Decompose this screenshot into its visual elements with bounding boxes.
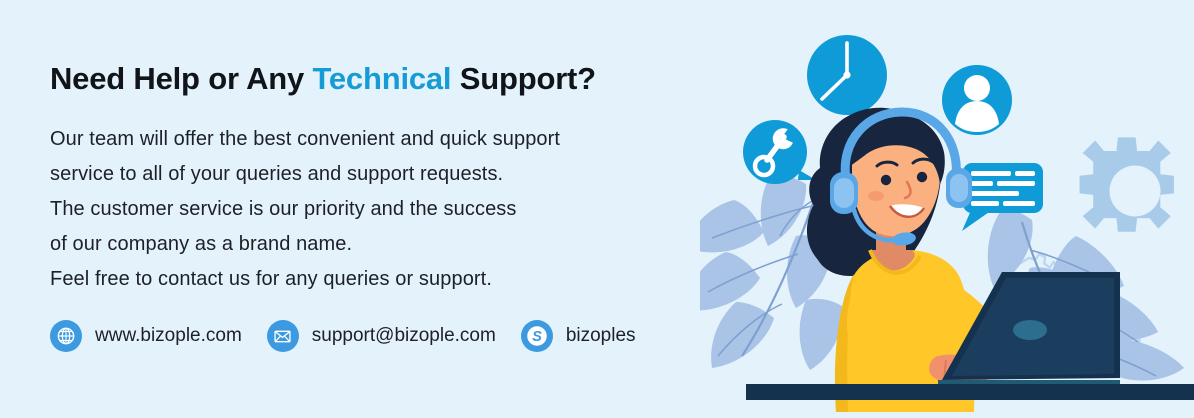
skype-icon: S: [521, 320, 553, 352]
contact-item-website[interactable]: www.bizople.com: [50, 320, 242, 352]
desk: [746, 384, 1194, 400]
content-column: Need Help or Any Technical Support? Our …: [50, 0, 740, 418]
envelope-icon: [267, 320, 299, 352]
description-paragraph: Our team will offer the best convenient …: [50, 122, 560, 262]
description-line-3: The customer service is our priority and…: [50, 198, 517, 220]
description-line-4: of our company as a brand name.: [50, 233, 352, 255]
support-banner: Need Help or Any Technical Support? Our …: [0, 0, 1194, 418]
cta-paragraph: Feel free to contact us for any queries …: [50, 262, 492, 297]
user-avatar-icon: [942, 65, 1012, 135]
contact-item-skype[interactable]: S bizoples: [521, 320, 636, 352]
description-line-1: Our team will offer the best convenient …: [50, 128, 560, 150]
contact-list: www.bizople.com support@bizople.com: [50, 320, 657, 352]
contact-label-email: support@bizople.com: [312, 325, 496, 347]
globe-icon: [50, 320, 82, 352]
page-title-part2: Support?: [451, 61, 596, 96]
page-title: Need Help or Any Technical Support?: [50, 61, 596, 97]
contact-label-skype: bizoples: [566, 325, 636, 347]
description-line-2: service to all of your queries and suppo…: [50, 163, 503, 185]
page-title-part1: Need Help or Any: [50, 61, 312, 96]
gear-icon-large: [1080, 137, 1174, 231]
contact-label-website: www.bizople.com: [95, 325, 242, 347]
svg-text:S: S: [532, 329, 542, 345]
clock-icon: [807, 35, 887, 115]
contact-item-email[interactable]: support@bizople.com: [267, 320, 496, 352]
support-agent-illustration: [700, 0, 1194, 418]
page-title-accent: Technical: [312, 61, 451, 96]
